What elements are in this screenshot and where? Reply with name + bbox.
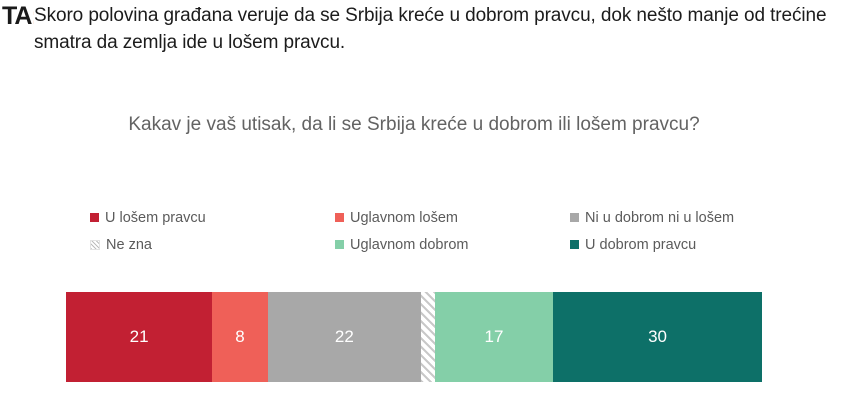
legend-swatch-icon	[335, 213, 344, 222]
bar-segment-value: 21	[130, 327, 149, 347]
legend-item-label: U lošem pravcu	[105, 210, 206, 226]
bar-segment-value: 8	[235, 327, 244, 347]
legend-swatch-icon	[335, 240, 344, 249]
legend-item-label: Ni u dobrom ni u lošem	[585, 210, 734, 226]
brand-logo: TA:	[0, 0, 34, 29]
bar-segment	[421, 292, 435, 382]
legend-item[interactable]: U lošem pravcu	[90, 210, 335, 226]
bar-segment: 8	[212, 292, 268, 382]
legend-swatch-icon	[90, 213, 99, 222]
legend-item[interactable]: Uglavnom dobrom	[335, 237, 570, 253]
bar-segment: 22	[268, 292, 421, 382]
legend-swatch-icon	[90, 240, 100, 250]
brand-logo-text: TA	[2, 2, 31, 29]
chart-panel: Kakav je vaš utisak, da li se Srbija kre…	[0, 86, 850, 408]
bar-segment-value: 17	[485, 327, 504, 347]
bar-segment: 21	[66, 292, 212, 382]
legend-item-label: Uglavnom dobrom	[350, 237, 468, 253]
legend-item-label: U dobrom pravcu	[585, 237, 696, 253]
legend-swatch-icon	[570, 213, 579, 222]
chart-title: Kakav je vaš utisak, da li se Srbija kre…	[66, 112, 762, 138]
stacked-bar-chart: 218221730	[66, 292, 762, 382]
article-header: TA: Skoro polovina građana veruje da se …	[0, 0, 850, 76]
bar-segment-value: 30	[648, 327, 667, 347]
legend-item[interactable]: Uglavnom lošem	[335, 210, 570, 226]
legend-swatch-icon	[570, 240, 579, 249]
chart-legend: U lošem pravcuUglavnom lošemNi u dobrom …	[90, 204, 770, 258]
legend-item-label: Uglavnom lošem	[350, 210, 458, 226]
legend-item-label: Ne zna	[106, 237, 152, 253]
bar-segment-value: 22	[335, 327, 354, 347]
legend-item[interactable]: U dobrom pravcu	[570, 237, 770, 253]
lead-paragraph: Skoro polovina građana veruje da se Srbi…	[34, 0, 850, 56]
bar-segment: 17	[435, 292, 553, 382]
legend-item[interactable]: Ni u dobrom ni u lošem	[570, 210, 770, 226]
bar-segment: 30	[553, 292, 762, 382]
legend-item[interactable]: Ne zna	[90, 237, 335, 253]
